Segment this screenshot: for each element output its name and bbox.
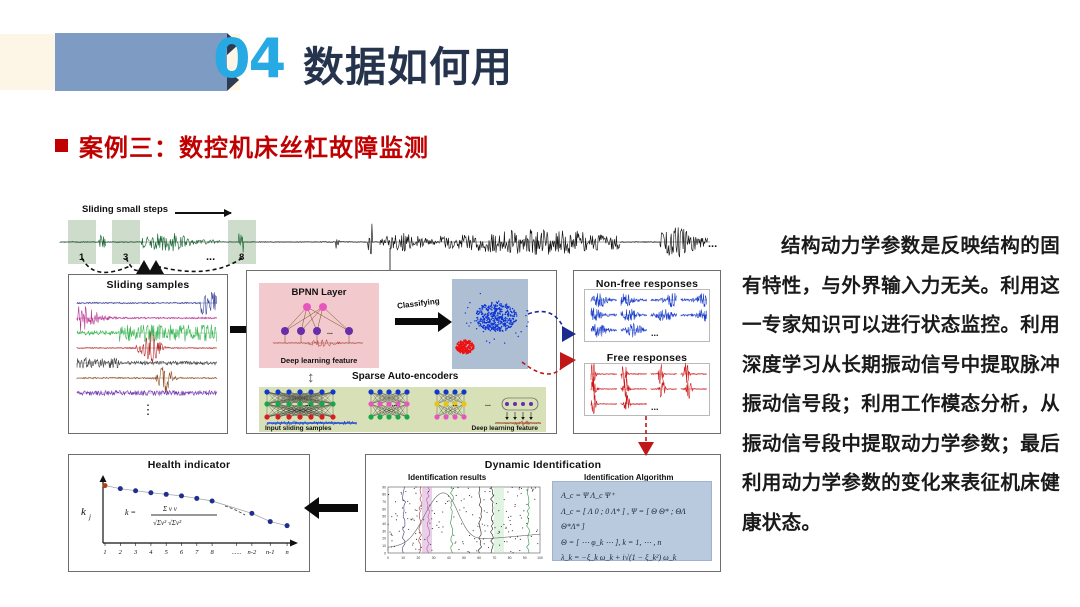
sliding-samples-panel: Sliding samples ⋮ — [68, 274, 228, 434]
workflow-diagram: Sliding small steps 1 3 8 ... ... Slidin… — [60, 186, 722, 578]
sparse-autoencoders-title: Sparse Auto-encoders — [352, 371, 458, 382]
classification-scatter-plot — [452, 279, 528, 369]
responses-panel: Non-free responses ... Free responses ..… — [573, 270, 721, 434]
algorithm-line-1: A_c = Ψ Λ_c Ψ⁺ — [561, 488, 703, 504]
svg-text:5: 5 — [165, 549, 169, 556]
bidirectional-arrow-icon: ↕ — [307, 370, 315, 385]
svg-text:0: 0 — [387, 556, 389, 560]
section-number: 04 — [213, 27, 284, 90]
algorithm-line-3: Θ = [ ⋯ φ_k ⋯ ], k = 1, ⋯ , n — [561, 535, 703, 551]
free-responses-title: Free responses — [574, 348, 720, 364]
to-health-arrow-icon — [318, 504, 358, 512]
signal-trace — [60, 204, 720, 256]
svg-text:4: 4 — [149, 549, 153, 556]
svg-text:3: 3 — [133, 549, 138, 556]
svg-text:30: 30 — [432, 556, 436, 560]
autoencoder-output-caption: Deep learning feature — [472, 425, 538, 432]
header-blue-band — [55, 33, 227, 91]
svg-text:......: ...... — [232, 549, 242, 556]
svg-text:2: 2 — [119, 549, 123, 556]
free-responses-box: ... — [584, 363, 710, 416]
sliding-samples-ellipsis: ⋮ — [69, 405, 227, 414]
svg-text:60: 60 — [382, 507, 386, 511]
non-free-response-traces — [585, 290, 709, 341]
svg-text:n: n — [285, 549, 288, 556]
deep-learning-panel: BPNN Layer ... Deep learning feature Cla… — [246, 270, 557, 434]
non-free-responses-box: ... — [584, 289, 710, 342]
bpnn-caption: Deep learning feature — [259, 356, 379, 365]
svg-text:70: 70 — [382, 500, 386, 504]
svg-text:8: 8 — [210, 549, 214, 556]
long-vibration-signal: Sliding small steps 1 3 8 ... ... — [60, 204, 720, 256]
bpnn-layer-box: BPNN Layer ... Deep learning feature — [259, 283, 379, 368]
health-indicator-panel: Health indicator kj12345678......n-2n-1n… — [68, 454, 310, 572]
svg-text:Σ v v: Σ v v — [162, 505, 178, 513]
non-free-responses-title: Non-free responses — [574, 274, 720, 290]
svg-text:k: k — [81, 506, 87, 518]
identification-results-chart: 0102030405060708090100010203040506070809… — [376, 483, 544, 565]
svg-text:j: j — [88, 513, 91, 521]
sliding-samples-traces — [69, 293, 227, 405]
identification-algorithm-box: A_c = Ψ Λ_c Ψ⁺ Λ_c = [ Λ 0 ; 0 Λ* ] , Ψ … — [552, 481, 712, 561]
svg-text:...: ... — [485, 401, 491, 408]
svg-text:k =: k = — [125, 508, 136, 517]
bpnn-graph: ... — [259, 299, 379, 357]
svg-text:60: 60 — [477, 556, 481, 560]
svg-text:n-2: n-2 — [248, 549, 257, 556]
sliding-samples-title: Sliding samples — [69, 275, 227, 291]
case-subtitle: 案例三：数控机床丝杠故障监测 — [55, 128, 429, 163]
health-indicator-title: Health indicator — [69, 455, 309, 471]
svg-text:n-1: n-1 — [266, 549, 275, 556]
svg-text:20: 20 — [382, 537, 386, 541]
scatter-points — [452, 279, 528, 369]
svg-text:80: 80 — [508, 556, 512, 560]
svg-text:70: 70 — [493, 556, 497, 560]
svg-text:50: 50 — [462, 556, 466, 560]
svg-text:7: 7 — [195, 549, 199, 556]
sparse-autoencoders-box: ............ Input sliding samples Deep … — [259, 387, 546, 432]
svg-text:20: 20 — [417, 556, 421, 560]
dynamic-identification-title: Dynamic Identification — [366, 455, 720, 471]
svg-text:90: 90 — [523, 556, 527, 560]
algorithm-line-2: Λ_c = [ Λ 0 ; 0 Λ* ] , Ψ = [ Θ Θ* ; ΘΛ Θ… — [561, 504, 703, 535]
svg-text:√Σv² √Σv²: √Σv² √Σv² — [153, 519, 182, 527]
case-subtitle-label: 案例三：数控机床丝杠故障监测 — [79, 128, 429, 163]
side-paragraph: 结构动力学参数是反映结构的固有特性，与外界输入力无关。利用这一专家知识可以进行状… — [742, 227, 1060, 544]
svg-text:1: 1 — [103, 549, 106, 556]
free-ellipsis: ... — [651, 402, 659, 412]
svg-text:0: 0 — [384, 551, 386, 555]
square-bullet-icon — [55, 139, 68, 152]
svg-text:40: 40 — [382, 522, 386, 526]
svg-text:...: ... — [305, 402, 310, 408]
identification-results-label: Identification results — [408, 473, 486, 482]
svg-text:10: 10 — [382, 544, 386, 548]
classifying-arrow-icon — [395, 318, 439, 325]
svg-text:6: 6 — [180, 549, 184, 556]
svg-text:80: 80 — [382, 493, 386, 497]
free-response-traces — [585, 364, 709, 415]
health-indicator-chart: kj12345678......n-2n-1nk =Σ v v√Σv² √Σv² — [69, 471, 309, 569]
svg-text:90: 90 — [382, 485, 386, 489]
svg-text:100: 100 — [537, 556, 543, 560]
page-title: 数据如何用 — [303, 33, 513, 93]
dynamic-identification-panel: Dynamic Identification Identification re… — [365, 454, 721, 572]
bpnn-title: BPNN Layer — [259, 283, 379, 298]
svg-text:...: ... — [392, 402, 397, 408]
svg-text:...: ... — [453, 402, 458, 408]
algorithm-line-4: λ_k = −ξ_k ω_k + i√(1 − ξ_k²) ω_k — [561, 550, 703, 566]
svg-text:30: 30 — [382, 529, 386, 533]
svg-text:40: 40 — [447, 556, 451, 560]
autoencoder-input-caption: Input sliding samples — [265, 425, 331, 432]
svg-text:10: 10 — [401, 556, 405, 560]
svg-text:50: 50 — [382, 515, 386, 519]
non-free-ellipsis: ... — [651, 328, 659, 338]
svg-text:...: ... — [327, 329, 333, 336]
classifying-label: Classifying — [397, 296, 440, 310]
